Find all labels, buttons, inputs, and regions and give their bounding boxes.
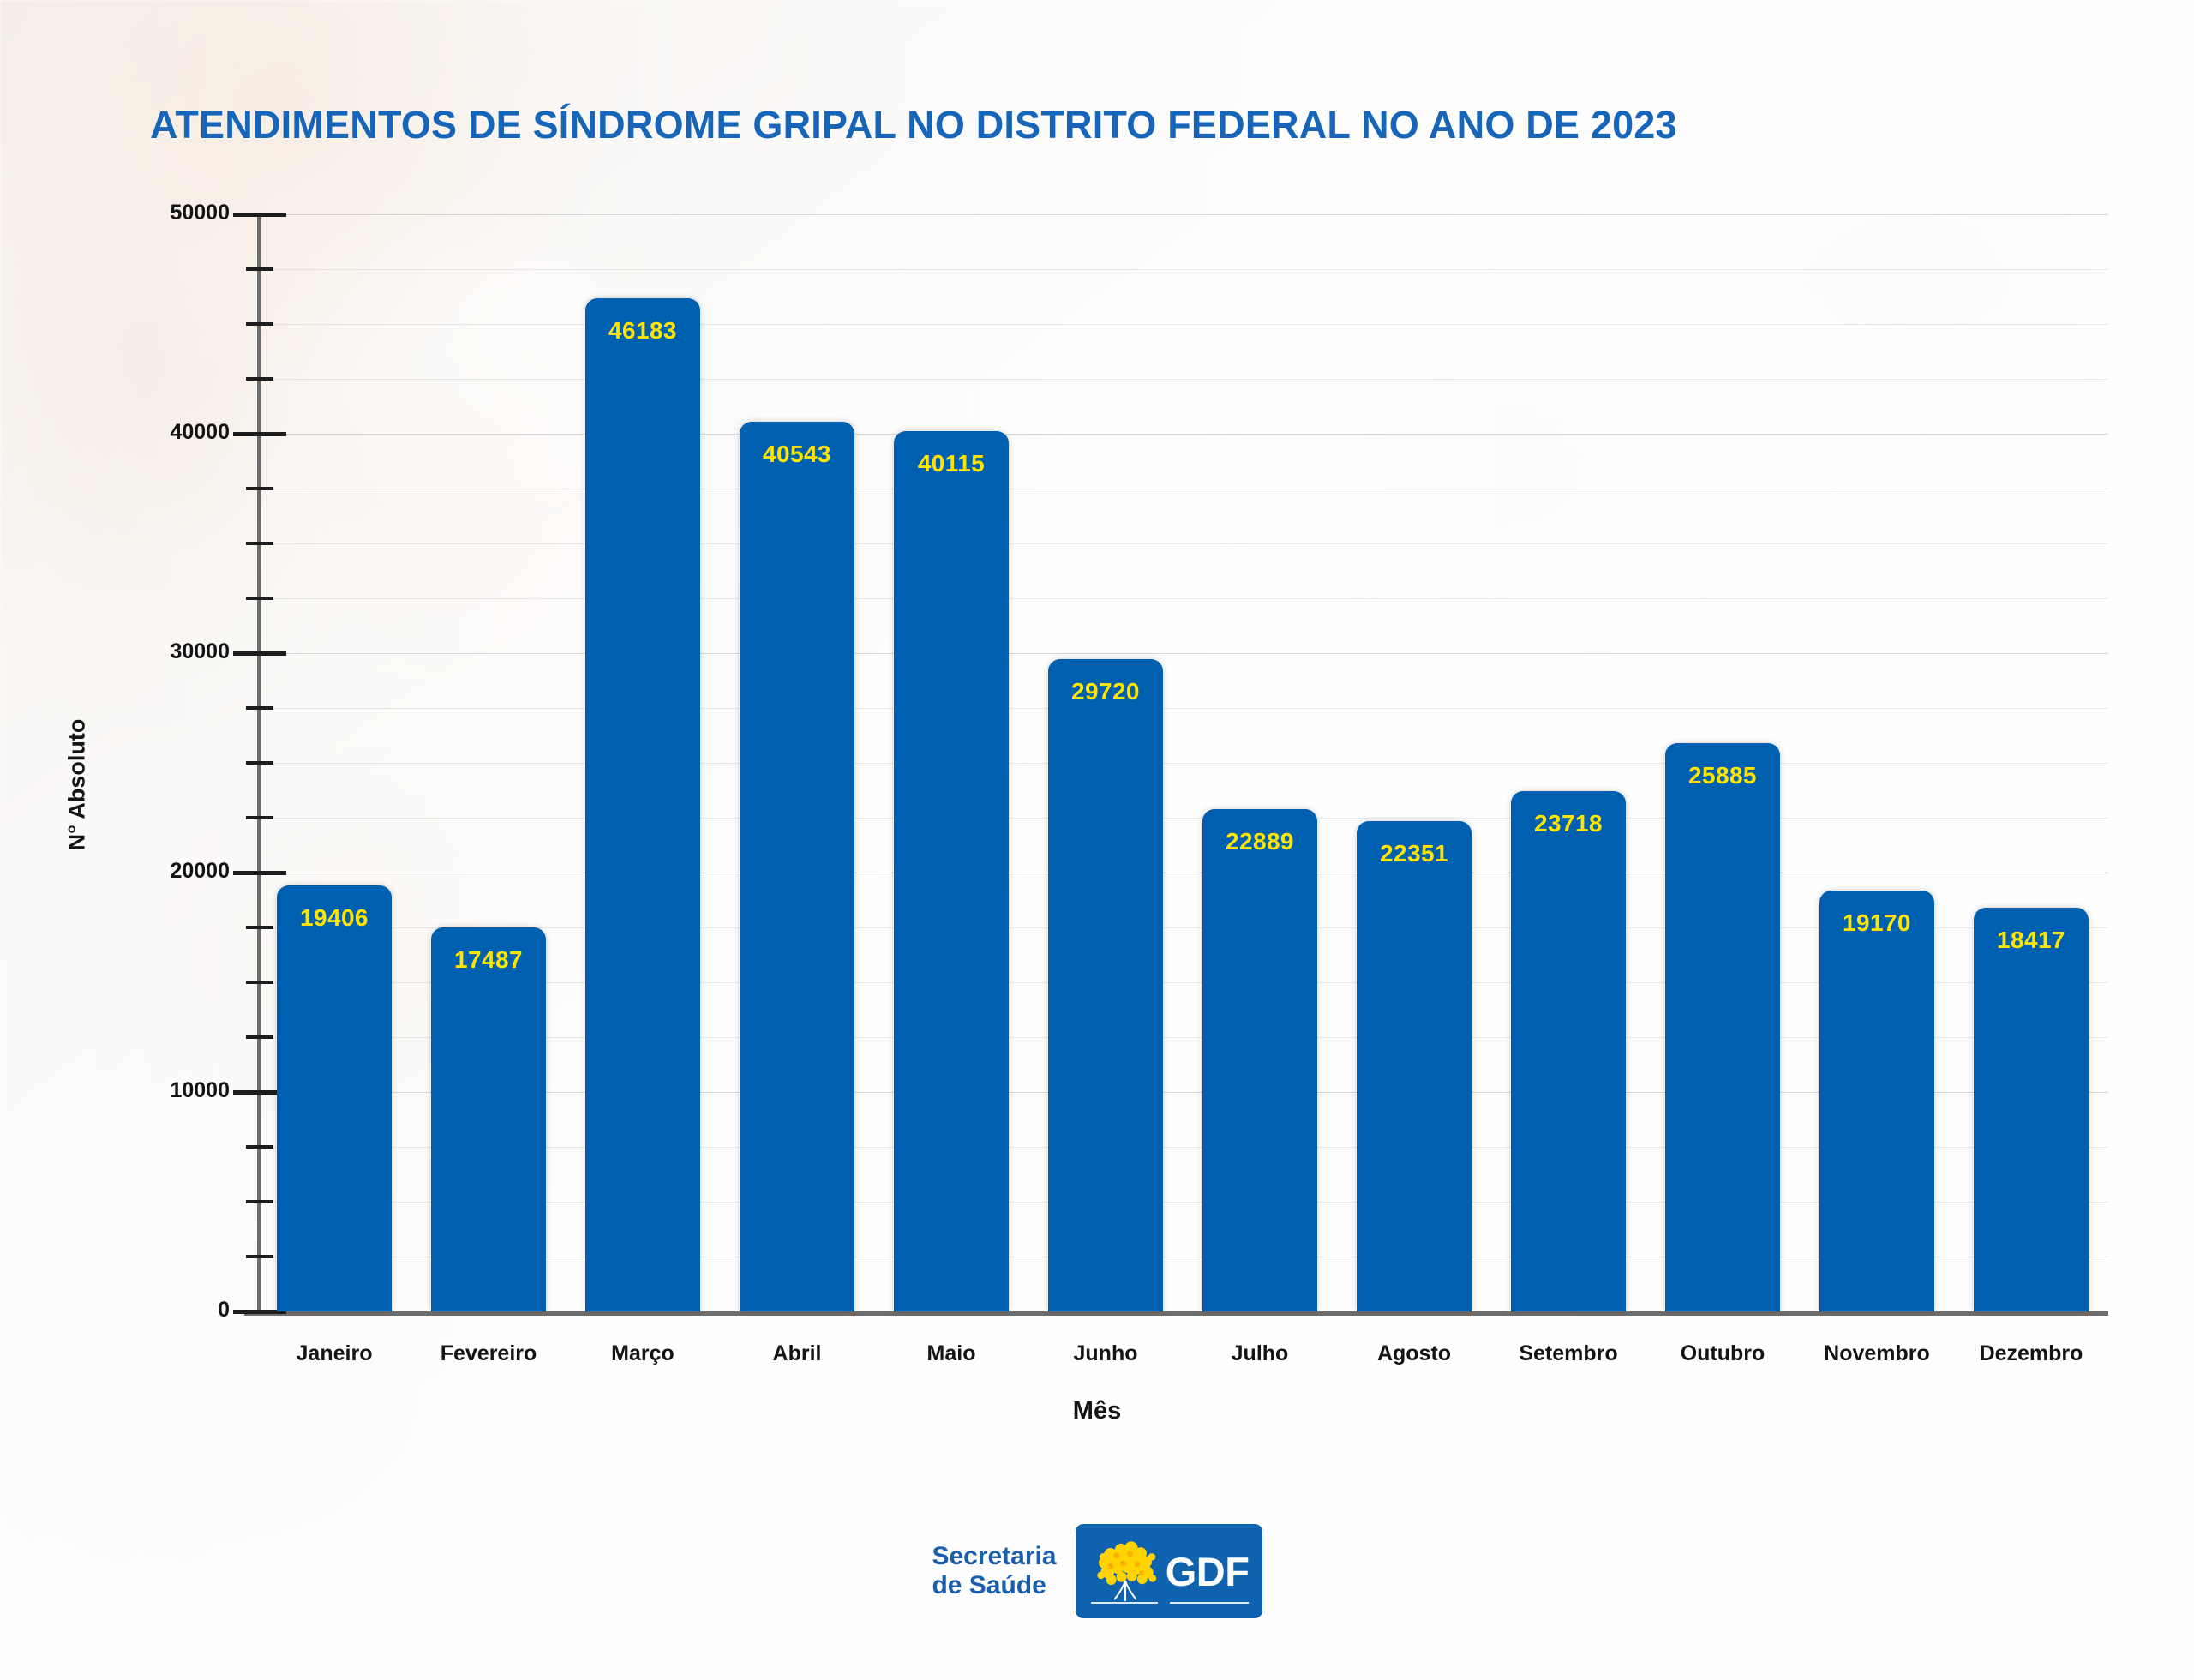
y-axis-minor-tick — [246, 597, 273, 600]
gridline-minor — [257, 489, 2108, 489]
y-axis-major-tick — [233, 871, 286, 875]
gridline-minor — [257, 543, 2108, 544]
chart-title: ATENDIMENTOS DE SÍNDROME GRIPAL NO DISTR… — [150, 103, 1677, 147]
gdf-text: GDF — [1166, 1551, 1250, 1592]
bar: 46183 — [585, 298, 699, 1311]
y-axis-tick-label: 30000 — [170, 639, 230, 664]
bar: 19170 — [1819, 891, 1933, 1311]
bar-value-label: 29720 — [1048, 678, 1162, 705]
gdf-underline-left — [1091, 1602, 1158, 1604]
gridline — [257, 653, 2108, 654]
gridline-minor — [257, 708, 2108, 709]
bar: 25885 — [1665, 743, 1779, 1311]
secretaria-line-1: Secretaria — [932, 1542, 1056, 1571]
bar: 29720 — [1048, 659, 1162, 1311]
gdf-logo: GDF — [1076, 1524, 1262, 1618]
x-axis-category-label: Maio — [874, 1341, 1028, 1366]
x-axis-category-label: Novembro — [1800, 1341, 1954, 1366]
gridline-minor — [257, 269, 2108, 270]
y-axis-minor-tick — [246, 981, 273, 984]
x-axis-title: Mês — [0, 1397, 2194, 1425]
bar-value-label: 18417 — [1974, 927, 2088, 954]
x-axis-category-label: Fevereiro — [411, 1341, 566, 1366]
y-axis-minor-tick — [246, 926, 273, 929]
gridline — [257, 434, 2108, 435]
y-axis-major-tick — [233, 432, 286, 436]
gridline-minor — [257, 379, 2108, 380]
bar: 40115 — [894, 431, 1008, 1311]
bar-value-label: 23718 — [1511, 810, 1625, 837]
gdf-underline-right — [1170, 1602, 1249, 1604]
bar-value-label: 19406 — [277, 904, 391, 932]
footer-logo: Secretaria de Saúde — [0, 1524, 2194, 1618]
bar-value-label: 40543 — [740, 441, 854, 468]
y-axis-minor-tick — [246, 1035, 273, 1039]
bar: 18417 — [1974, 908, 2088, 1311]
bar-value-label: 17487 — [431, 946, 545, 974]
bar: 22351 — [1357, 821, 1471, 1311]
x-axis-category-label: Junho — [1028, 1341, 1183, 1366]
gridline-minor — [257, 598, 2108, 599]
x-axis-category-label: Abril — [720, 1341, 874, 1366]
x-axis-category-label: Dezembro — [1954, 1341, 2108, 1366]
gridline — [257, 873, 2108, 873]
bar-value-label: 19170 — [1819, 909, 1933, 937]
secretaria-de-saude-wordmark: Secretaria de Saúde — [932, 1542, 1056, 1600]
bar: 40543 — [740, 422, 854, 1311]
x-axis-category-label: Outubro — [1645, 1341, 1800, 1366]
y-axis-minor-tick — [246, 487, 273, 490]
x-axis-category-label: Janeiro — [257, 1341, 411, 1366]
y-axis-minor-tick — [246, 761, 273, 765]
y-axis-minor-tick — [246, 706, 273, 710]
bar-value-label: 22889 — [1202, 828, 1316, 855]
y-axis-minor-tick — [246, 542, 273, 545]
bar: 23718 — [1511, 791, 1625, 1311]
y-axis-tick-label: 40000 — [170, 420, 230, 445]
bar: 22889 — [1202, 809, 1316, 1311]
gridline — [257, 214, 2108, 215]
y-axis-minor-tick — [246, 1255, 273, 1258]
bar: 19406 — [277, 885, 391, 1311]
ipe-tree-icon — [1088, 1533, 1162, 1611]
y-axis-title: N° Absoluto — [64, 691, 91, 879]
x-axis-category-label: Agosto — [1337, 1341, 1491, 1366]
x-axis-line — [244, 1311, 2108, 1316]
secretaria-line-2: de Saúde — [932, 1571, 1056, 1600]
gridline-minor — [257, 324, 2108, 325]
y-axis-tick-label: 0 — [218, 1298, 230, 1323]
bar: 17487 — [431, 927, 545, 1311]
x-axis-category-label: Março — [566, 1341, 720, 1366]
y-axis-tick-label: 50000 — [170, 201, 230, 225]
y-axis-minor-tick — [246, 1145, 273, 1149]
x-axis-category-label: Julho — [1183, 1341, 1337, 1366]
y-axis-major-tick — [233, 213, 286, 217]
bar-value-label: 22351 — [1357, 840, 1471, 867]
y-axis-minor-tick — [246, 1200, 273, 1203]
y-axis-tick-label: 20000 — [170, 859, 230, 884]
x-axis-category-label: Setembro — [1491, 1341, 1645, 1366]
gridline-minor — [257, 818, 2108, 819]
y-axis-minor-tick — [246, 377, 273, 381]
y-axis-minor-tick — [246, 816, 273, 819]
gridline-minor — [257, 763, 2108, 764]
bar-value-label: 46183 — [585, 317, 699, 345]
bar-value-label: 25885 — [1665, 762, 1779, 789]
bar-value-label: 40115 — [894, 450, 1008, 477]
y-axis-minor-tick — [246, 322, 273, 326]
y-axis-minor-tick — [246, 267, 273, 271]
y-axis-major-tick — [233, 651, 286, 656]
y-axis-tick-label: 10000 — [170, 1078, 230, 1103]
